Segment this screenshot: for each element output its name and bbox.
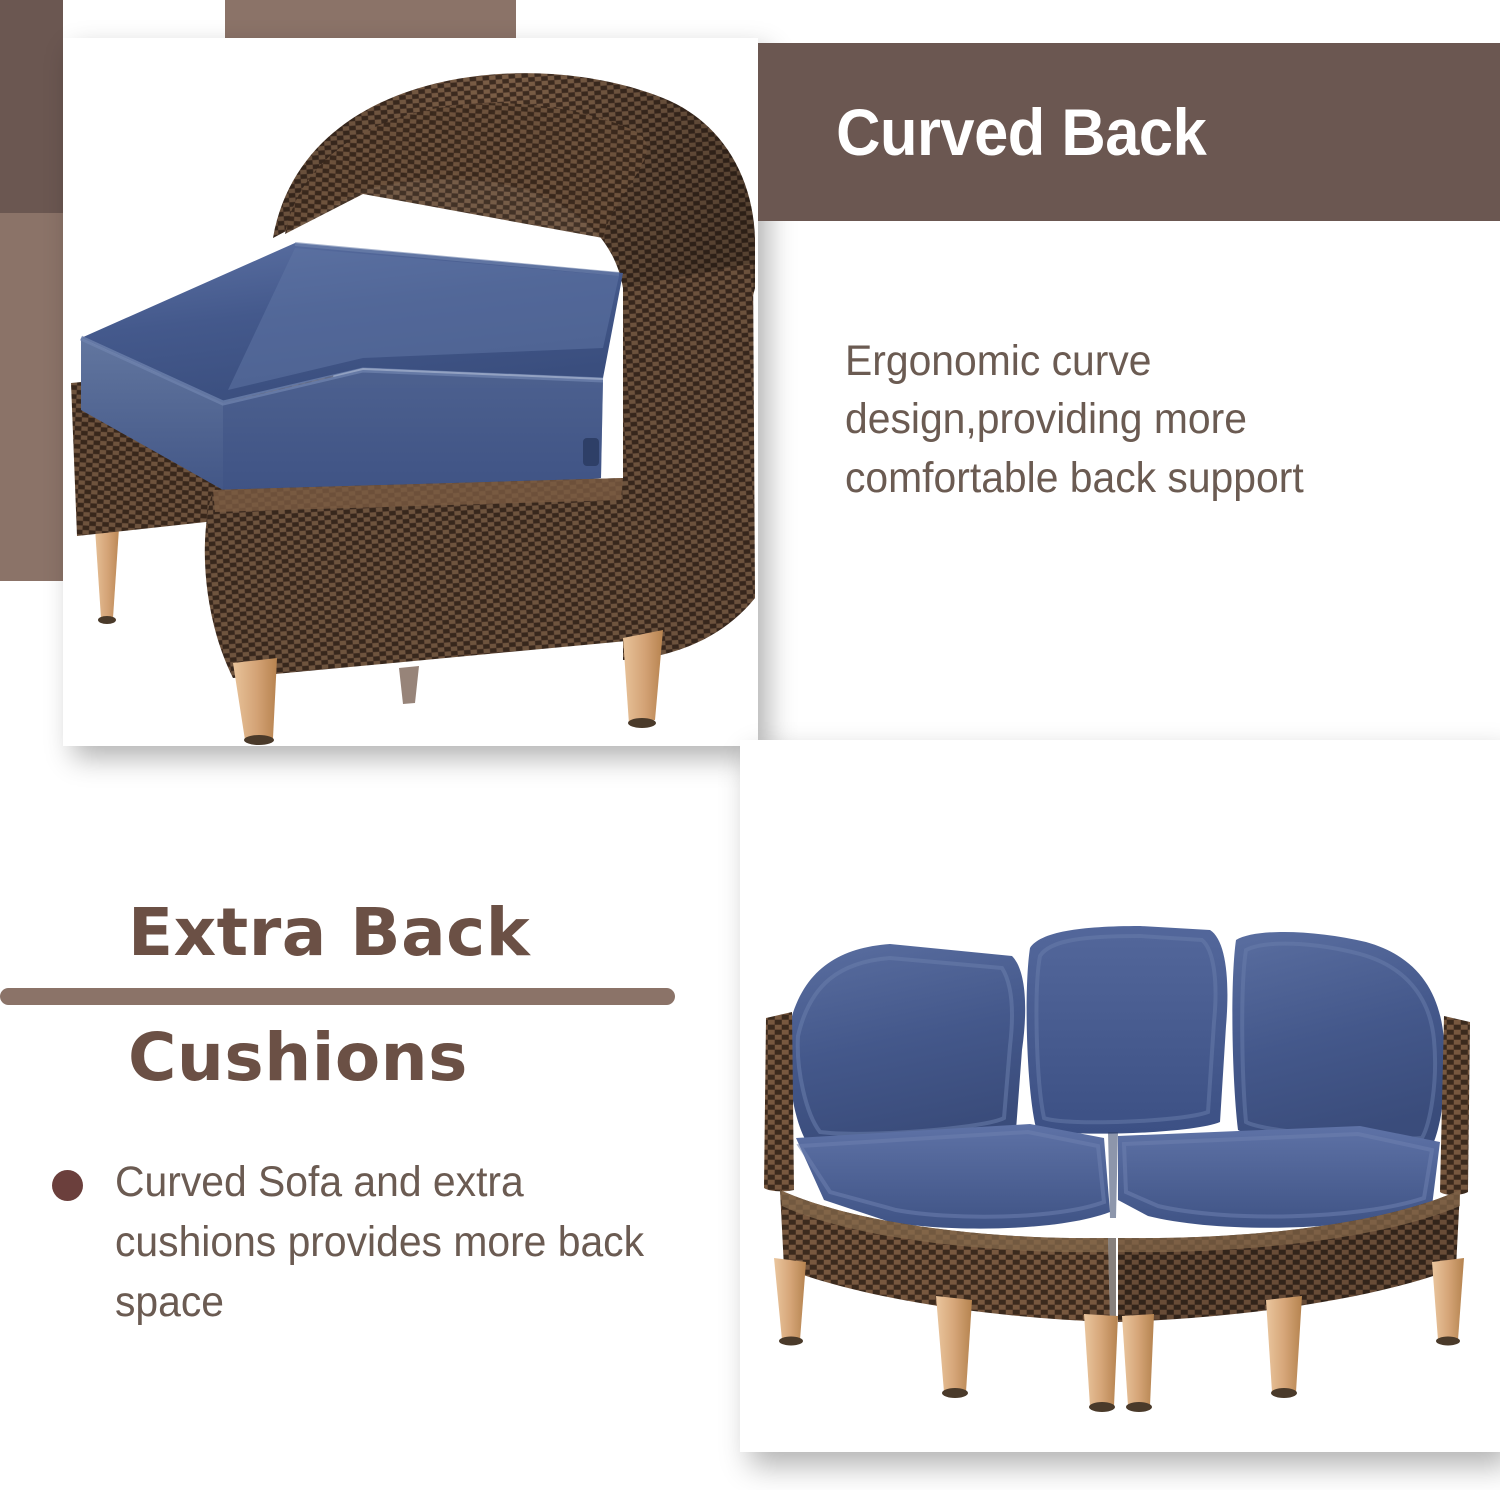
curved-sofa-set-photo [740, 740, 1500, 1452]
extra-back-cushions-heading: Extra Back Cushions [0, 900, 700, 1091]
list-item: Curved Sofa and extra cushions provides … [52, 1152, 712, 1333]
curved-back-chair-photo [63, 38, 758, 746]
heading-divider-rule [0, 988, 675, 1005]
heading-line-1: Extra Back [0, 900, 700, 966]
bullet-text: Curved Sofa and extra cushions provides … [115, 1152, 682, 1333]
left-light-brown-bar [0, 213, 63, 581]
feature-description: Ergonomic curve design,providing more co… [845, 332, 1434, 507]
top-left-dark-brown-block [0, 0, 63, 213]
heading-line-2: Cushions [0, 1025, 700, 1091]
banner-title: Curved Back [758, 94, 1206, 170]
bullet-dot-icon [52, 1170, 83, 1201]
sofa-illustration [740, 740, 1500, 1452]
curved-back-banner: Curved Back [758, 43, 1500, 221]
chair-illustration [63, 38, 758, 746]
